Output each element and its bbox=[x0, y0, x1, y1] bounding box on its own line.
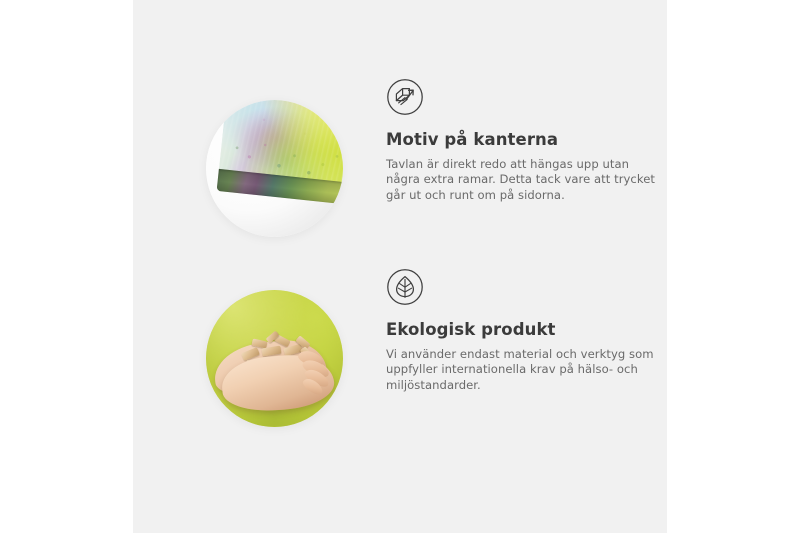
content-panel: Motiv på kanterna Tavlan är direkt redo … bbox=[133, 0, 667, 533]
product-feature-panel: Motiv på kanterna Tavlan är direkt redo … bbox=[0, 0, 800, 533]
feature-title-eco: Ekologisk produkt bbox=[386, 320, 656, 340]
feature-text-edges: Motiv på kanterna Tavlan är direkt redo … bbox=[386, 78, 656, 203]
fingers bbox=[298, 348, 342, 392]
feature-title-edges: Motiv på kanterna bbox=[386, 130, 656, 150]
feature-description-eco: Vi använder endast material och verktyg … bbox=[386, 347, 656, 394]
hands-holding-wood-chips-photo bbox=[206, 290, 343, 427]
feature-text-eco: Ekologisk produkt Vi använder endast mat… bbox=[386, 268, 656, 393]
canvas-print-corner-photo bbox=[206, 100, 343, 237]
wrapped-canvas-edge-icon bbox=[386, 78, 424, 116]
feature-media-eco bbox=[200, 284, 348, 432]
feature-row-edges: Motiv på kanterna Tavlan är direkt redo … bbox=[133, 78, 667, 258]
feature-media-edges bbox=[200, 94, 348, 242]
feature-row-eco: Ekologisk produkt Vi använder endast mat… bbox=[133, 268, 667, 448]
leaf-icon bbox=[386, 268, 424, 306]
feature-description-edges: Tavlan är direkt redo att hängas upp uta… bbox=[386, 157, 656, 204]
stretched-canvas-block bbox=[216, 100, 343, 209]
